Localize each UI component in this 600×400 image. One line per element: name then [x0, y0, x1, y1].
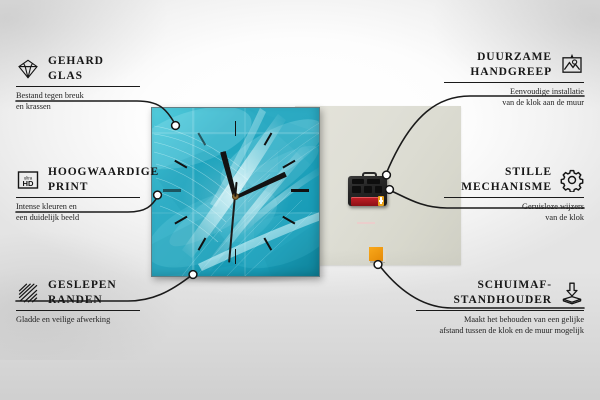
feature-divider: [16, 310, 140, 311]
feature-hoogwaardige-print: ultra HD HOOGWAARDIGE PRINT Intense kleu…: [16, 165, 140, 223]
feature-title: GESLEPEN RANDEN: [48, 278, 117, 307]
feature-duurzame-handgreep: DUURZAME HANDGREEP Eenvoudige installati…: [444, 50, 584, 108]
wall-clock-product: [151, 107, 320, 277]
feature-schuimaf-standhouder: SCHUIMAF- STANDHOUDER Maakt het behouden…: [416, 278, 584, 336]
gear-icon: [560, 168, 584, 192]
feature-gehard-glas: GEHARD GLAS Bestand tegen breuk en krass…: [16, 54, 140, 112]
battery-label: [357, 222, 375, 224]
feature-title: STILLE MECHANISME: [461, 165, 552, 194]
svg-text:HD: HD: [23, 179, 34, 188]
clock-mechanism: [348, 172, 387, 206]
clock-hands: [151, 107, 320, 277]
infographic-canvas: GEHARD GLAS Bestand tegen breuk en krass…: [0, 0, 600, 400]
arrow-down-to-surface-icon: [560, 281, 584, 305]
feature-divider: [16, 197, 140, 198]
feature-subtitle: Gladde en veilige afwerking: [16, 315, 140, 326]
diamond-icon: [16, 57, 40, 81]
minute-hand: [234, 171, 287, 200]
feature-title: SCHUIMAF- STANDHOUDER: [453, 278, 552, 307]
feature-stille-mechanisme: STILLE MECHANISME Geruisloze wijzers van…: [444, 165, 584, 223]
second-hand: [228, 196, 235, 262]
feature-divider: [16, 86, 140, 87]
picture-frame-icon: [560, 53, 584, 77]
feature-divider: [416, 310, 584, 311]
battery-plus-terminal: [378, 196, 384, 206]
foam-spacer-side: [383, 249, 386, 262]
feature-subtitle: Eenvoudige installatie van de klok aan d…: [444, 87, 584, 108]
feature-divider: [444, 197, 584, 198]
feature-subtitle: Intense kleuren en een duidelijk beeld: [16, 202, 140, 223]
ultra-hd-icon: ultra HD: [16, 168, 40, 192]
feature-title: GEHARD GLAS: [48, 54, 104, 83]
feature-title: DUURZAME HANDGREEP: [470, 50, 552, 79]
feature-geslepen-randen: GESLEPEN RANDEN Gladde en veilige afwerk…: [16, 278, 140, 326]
ground-edges-icon: [16, 281, 40, 305]
feature-subtitle: Maakt het behouden van een gelijke afsta…: [416, 315, 584, 336]
feature-subtitle: Geruisloze wijzers van de klok: [444, 202, 584, 223]
foam-spacer: [369, 247, 385, 262]
feature-divider: [444, 82, 584, 83]
feature-title: HOOGWAARDIGE PRINT: [48, 165, 159, 194]
mechanism-body: [348, 176, 387, 206]
foam-spacer-top: [369, 247, 383, 261]
feature-subtitle: Bestand tegen breuk en krassen: [16, 91, 140, 112]
